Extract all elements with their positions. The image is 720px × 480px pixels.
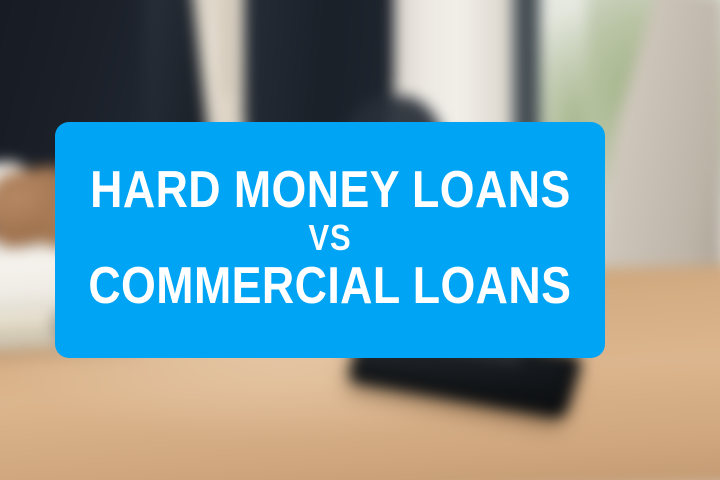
featured-image-graphic: HARD MONEY LOANS VS COMMERCIAL LOANS: [0, 0, 720, 480]
title-banner: HARD MONEY LOANS VS COMMERCIAL LOANS: [55, 122, 605, 358]
banner-headline-line-1: HARD MONEY LOANS: [90, 164, 571, 216]
banner-headline-line-2: VS: [308, 220, 351, 256]
banner-headline-line-3: COMMERCIAL LOANS: [88, 260, 571, 312]
